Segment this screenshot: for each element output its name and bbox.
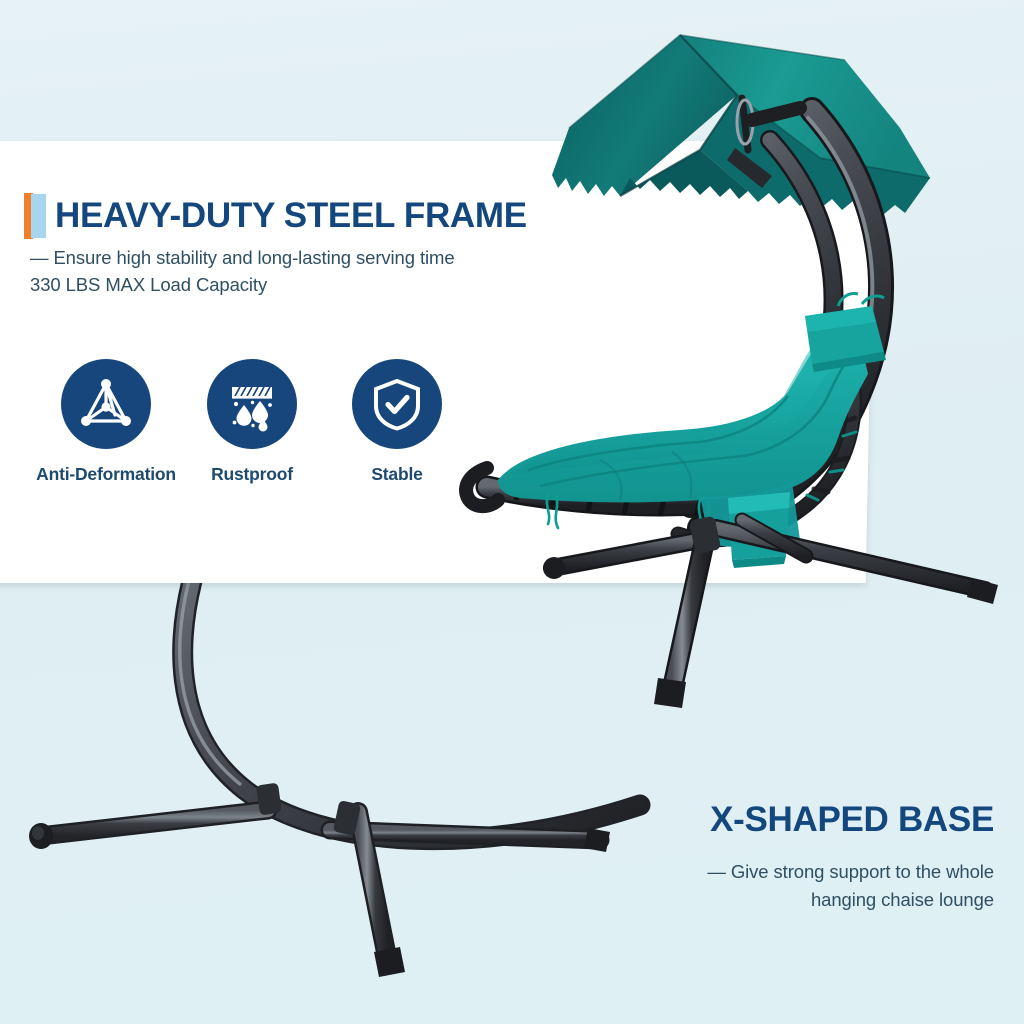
bottom-right-callout: X-SHAPED BASE — Give strong support to t… bbox=[707, 800, 994, 914]
secondary-title: X-SHAPED BASE bbox=[707, 800, 994, 840]
product-feature-graphic: HEAVY-DUTY STEEL FRAME — Ensure high sta… bbox=[0, 0, 1024, 1024]
secondary-subcopy-line-1: — Give strong support to the whole bbox=[707, 858, 994, 886]
heading-row: HEAVY-DUTY STEEL FRAME bbox=[24, 193, 527, 239]
feature-icon-row: Anti-Deformation bbox=[30, 359, 472, 485]
feature-label: Stable bbox=[371, 464, 422, 485]
page-title: HEAVY-DUTY STEEL FRAME bbox=[55, 196, 527, 236]
feature-rustproof: Rustproof bbox=[182, 359, 322, 485]
subcopy-line-1: — Ensure high stability and long-lasting… bbox=[30, 244, 455, 271]
accent-blue-bar bbox=[31, 194, 46, 238]
shield-check-icon bbox=[368, 375, 426, 433]
secondary-subcopy-line-2: hanging chaise lounge bbox=[707, 886, 994, 914]
secondary-subcopy: — Give strong support to the whole hangi… bbox=[707, 858, 994, 914]
feature-anti-deformation: Anti-Deformation bbox=[30, 359, 182, 485]
feature-circle bbox=[352, 359, 442, 449]
feature-stable: Stable bbox=[322, 359, 472, 485]
feature-circle bbox=[61, 359, 151, 449]
water-droplets-icon bbox=[223, 375, 281, 433]
feature-label: Anti-Deformation bbox=[36, 464, 176, 485]
panel-subcopy: — Ensure high stability and long-lasting… bbox=[30, 244, 455, 298]
subcopy-line-2: 330 LBS MAX Load Capacity bbox=[30, 271, 455, 298]
triangle-frame-icon bbox=[77, 375, 135, 433]
info-panel-content: HEAVY-DUTY STEEL FRAME — Ensure high sta… bbox=[0, 141, 870, 583]
feature-label: Rustproof bbox=[211, 464, 293, 485]
feature-circle bbox=[207, 359, 297, 449]
heading-accent-bar bbox=[24, 193, 46, 239]
